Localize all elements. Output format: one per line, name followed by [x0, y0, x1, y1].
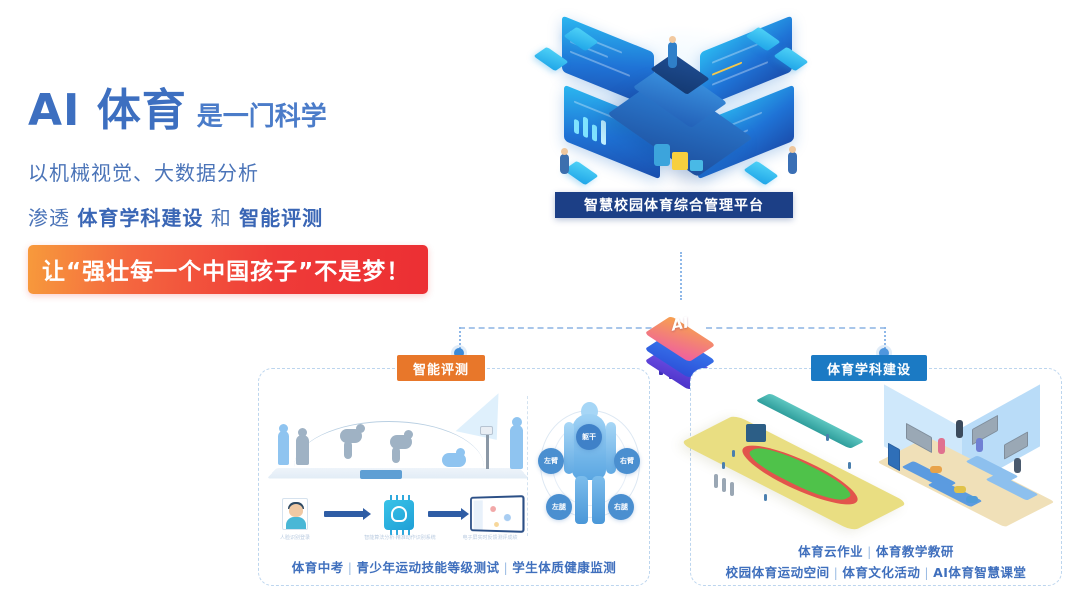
body-tag-left-arm: 左臂 [538, 448, 564, 474]
panel-inner-divider [527, 396, 528, 536]
title-sub-text: 是一门科学 [197, 102, 327, 132]
curriculum-footer-line-1: 体育云作业|体育教学教研 [690, 542, 1062, 563]
track-equipment [714, 474, 718, 488]
subtitle-line-1: 以机械视觉、大数据分析 [28, 157, 448, 186]
footer-item-health-monitor: 学生体质健康监测 [512, 560, 616, 575]
gym-person-side [1014, 458, 1021, 473]
athlete-silhouette-crouch [296, 435, 309, 465]
student-photo-icon [282, 498, 308, 530]
ai-stack-icon: AI [645, 305, 715, 377]
subtitle-highlight-2: 智能评测 [239, 206, 323, 230]
gym-person-mat-3 [966, 496, 978, 503]
ai-chip-icon [384, 500, 414, 530]
cylinder-chart [654, 144, 670, 166]
footer-item-cloud-homework: 体育云作业 [798, 544, 863, 559]
footer-item-skill-test: 青少年运动技能等级测试 [356, 560, 499, 575]
connector-platform-to-ai [680, 252, 682, 300]
track-person [826, 434, 829, 441]
footer-separator: | [500, 560, 513, 575]
curriculum-footer-line-2: 校园体育运动空间|体育文化活动|AI体育智慧课堂 [690, 563, 1062, 584]
track-person [848, 462, 851, 469]
subtitle-conjunction: 和 [203, 206, 239, 230]
pipeline-arrow-2 [428, 511, 462, 517]
athlete-head-takeoff [356, 424, 365, 433]
body-arm-left [564, 422, 574, 474]
isometric-data-platform-illustration [520, 2, 840, 192]
athlete-leg-flight [392, 447, 400, 463]
footer-separator: | [344, 560, 357, 575]
body-tag-left-leg: 左腿 [546, 494, 572, 520]
page-title: AI 体育是一门科学 [28, 88, 448, 135]
track-person [764, 494, 767, 501]
track-building [746, 424, 766, 442]
body-tag-right-arm: 右臂 [614, 448, 640, 474]
panel-tag-assessment: 智能评测 [397, 355, 485, 381]
observer-head [512, 417, 522, 427]
platform-label: 智慧校园体育综合管理平台 [555, 192, 793, 218]
athlete-head-landing [456, 448, 465, 457]
assessment-pipeline: 人脸识别登录 智能算法分析·精准动作识别系统 电子屏实时反馈测评成绩 [276, 496, 526, 542]
pipeline-caption-1: 人脸识别登录 [270, 534, 320, 541]
isometric-gym-classroom-illustration [892, 400, 1052, 520]
pipeline-caption-2: 智能算法分析·精准动作识别系统 [354, 534, 446, 541]
footer-separator: | [863, 544, 876, 559]
footer-item-campus-space: 校园体育运动空间 [726, 565, 830, 580]
athlete-leg-takeoff [344, 441, 352, 459]
observer-silhouette [510, 425, 523, 469]
panel-tag-curriculum: 体育学科建设 [811, 355, 927, 381]
cube-accent-yellow [672, 152, 688, 170]
pipeline-arrow-1 [324, 511, 364, 517]
track-equipment [730, 482, 734, 496]
athlete-silhouette-stand [278, 431, 289, 465]
footer-separator: | [920, 565, 933, 580]
track-equipment [722, 478, 726, 492]
athlete-head-flight [404, 430, 413, 439]
person-figure-bottom-left [560, 154, 569, 174]
footer-item-exam: 体育中考 [292, 560, 344, 575]
track-person [722, 462, 725, 469]
subtitle-prefix: 渗透 [28, 206, 77, 230]
gym-person-mat-2 [954, 486, 966, 493]
track-person [732, 450, 735, 457]
headline-block: AI 体育是一门科学 以机械视觉、大数据分析 渗透 体育学科建设 和 智能评测 … [28, 88, 448, 294]
body-tag-right-leg: 右腿 [608, 494, 634, 520]
body-tag-torso: 躯干 [576, 424, 602, 450]
curriculum-footer: 体育云作业|体育教学教研 校园体育运动空间|体育文化活动|AI体育智慧课堂 [690, 542, 1062, 583]
isometric-running-track-illustration [706, 400, 886, 522]
gym-person-mat-1 [930, 466, 942, 473]
body-leg-left [575, 476, 588, 524]
camera-icon [480, 426, 493, 435]
connector-ai-to-right [706, 327, 886, 329]
slide-canvas: AI 体育是一门科学 以机械视觉、大数据分析 渗透 体育学科建设 和 智能评测 … [0, 0, 1080, 610]
display-screen-icon [470, 495, 524, 533]
slogan-banner: 让“强壮每一个中国孩子”不是梦！ [28, 245, 428, 294]
athlete-head-stand [279, 424, 288, 433]
cube-accent-blue [690, 160, 703, 171]
assessment-footer: 体育中考|青少年运动技能等级测试|学生体质健康监测 [258, 558, 650, 579]
footer-item-smart-classroom: AI体育智慧课堂 [933, 565, 1026, 580]
person-figure-center [668, 42, 677, 68]
title-main-text: AI 体育 [28, 85, 187, 136]
gym-person-stretch-1 [938, 438, 945, 454]
camera-tripod [486, 433, 489, 469]
footer-item-teaching-research: 体育教学教研 [876, 544, 954, 559]
takeoff-board [360, 470, 402, 479]
long-jump-motion-capture-illustration [272, 398, 530, 483]
athlete-head-crouch [298, 428, 307, 437]
pipeline-caption-3: 电子屏实时反馈测评成绩 [454, 534, 526, 541]
subtitle-line-2: 渗透 体育学科建设 和 智能评测 [28, 202, 448, 231]
footer-item-culture-activity: 体育文化活动 [842, 565, 920, 580]
person-figure-bottom-right [788, 152, 797, 174]
gym-person-stretch-2 [976, 438, 983, 452]
body-leg-right [592, 476, 605, 524]
body-segment-analysis-illustration: 躯干 左臂 右臂 左腿 右腿 [534, 402, 646, 527]
subtitle-highlight-1: 体育学科建设 [77, 206, 203, 230]
footer-separator: | [830, 565, 843, 580]
gym-person-standing [956, 420, 963, 438]
